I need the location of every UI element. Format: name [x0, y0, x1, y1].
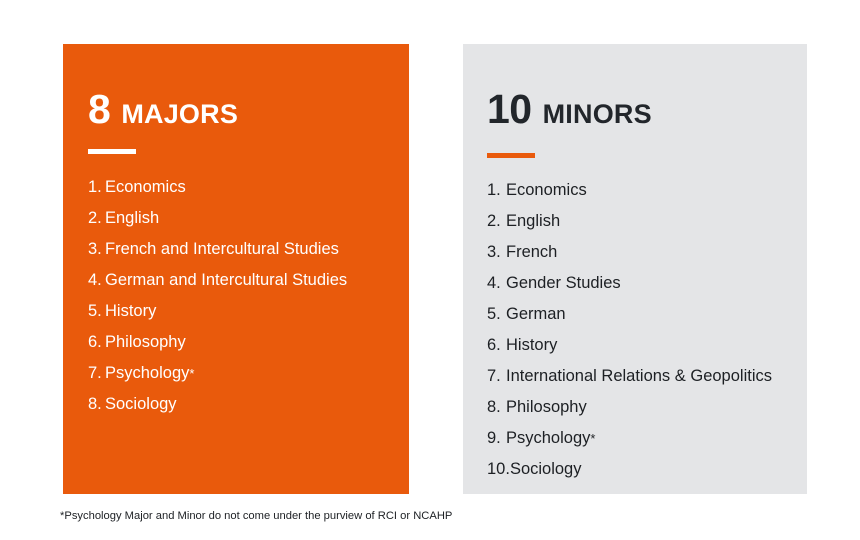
list-item-label: Economics: [506, 175, 587, 206]
list-item-number: 4.: [487, 268, 506, 299]
list-item-number: 6.: [487, 330, 506, 361]
list-item: 5.History: [88, 296, 347, 327]
list-item-number: 7.: [487, 361, 506, 392]
infographic-canvas: 8 MAJORS 1.Economics2.English3.French an…: [0, 0, 860, 540]
list-item: 1.Economics: [487, 175, 772, 206]
list-item: 10.Sociology: [487, 454, 772, 485]
list-item-number: 8.: [88, 389, 105, 420]
minors-heading: 10 MINORS: [487, 89, 652, 130]
list-item-number: 3.: [487, 237, 506, 268]
list-item-number: 5.: [487, 299, 506, 330]
list-item-label: Gender Studies: [506, 268, 621, 299]
list-item: 2.English: [88, 203, 347, 234]
list-item-label: Psychology: [105, 358, 189, 389]
majors-heading: 8 MAJORS: [88, 89, 238, 130]
list-item-label: French and Intercultural Studies: [105, 234, 339, 265]
majors-accent-rule: [88, 149, 136, 154]
list-item-label: History: [105, 296, 156, 327]
minors-list: 1.Economics2.English3.French4.Gender Stu…: [487, 175, 772, 485]
list-item: 8.Philosophy: [487, 392, 772, 423]
list-item: 6.History: [487, 330, 772, 361]
list-item-number: 4.: [88, 265, 105, 296]
list-item: 7.Psychology*: [88, 358, 347, 389]
list-item: 4.Gender Studies: [487, 268, 772, 299]
list-item-label: Sociology: [105, 389, 177, 420]
list-item-number: 9.: [487, 423, 506, 454]
list-item-label: English: [105, 203, 159, 234]
list-item-number: 1.: [487, 175, 506, 206]
list-item-number: 8.: [487, 392, 506, 423]
list-item-number: 2.: [487, 206, 506, 237]
list-item-number: 10.: [487, 454, 510, 485]
list-item-label: Psychology: [506, 423, 590, 454]
minors-word: MINORS: [543, 101, 652, 128]
footnote: *Psychology Major and Minor do not come …: [60, 509, 452, 523]
list-item-label: Philosophy: [506, 392, 587, 423]
list-item: 2.English: [487, 206, 772, 237]
list-item-label: Philosophy: [105, 327, 186, 358]
list-item-number: 2.: [88, 203, 105, 234]
list-item-label: History: [506, 330, 557, 361]
list-item: 3.French: [487, 237, 772, 268]
list-item-label: German: [506, 299, 566, 330]
majors-word: MAJORS: [121, 101, 238, 128]
list-item: 5.German: [487, 299, 772, 330]
list-item-label: French: [506, 237, 557, 268]
minors-panel: 10 MINORS 1.Economics2.English3.French4.…: [463, 44, 807, 494]
list-item-label: International Relations & Geopolitics: [506, 361, 772, 392]
list-item-label: English: [506, 206, 560, 237]
list-item-number: 1.: [88, 172, 105, 203]
list-item: 6.Philosophy: [88, 327, 347, 358]
list-item-label: Economics: [105, 172, 186, 203]
minors-accent-rule: [487, 153, 535, 158]
list-item: 1.Economics: [88, 172, 347, 203]
list-item-label: Sociology: [510, 454, 582, 485]
list-item-number: 5.: [88, 296, 105, 327]
list-item: 4.German and Intercultural Studies: [88, 265, 347, 296]
list-item-number: 7.: [88, 358, 105, 389]
majors-list: 1.Economics2.English3.French and Intercu…: [88, 172, 347, 420]
majors-count: 8: [88, 89, 110, 130]
list-item: 9.Psychology*: [487, 423, 772, 454]
list-item: 3.French and Intercultural Studies: [88, 234, 347, 265]
list-item: 8.Sociology: [88, 389, 347, 420]
list-item-number: 6.: [88, 327, 105, 358]
minors-count: 10: [487, 89, 532, 130]
majors-panel: 8 MAJORS 1.Economics2.English3.French an…: [63, 44, 409, 494]
list-item: 7.International Relations & Geopolitics: [487, 361, 772, 392]
list-item-number: 3.: [88, 234, 105, 265]
list-item-label: German and Intercultural Studies: [105, 265, 347, 296]
